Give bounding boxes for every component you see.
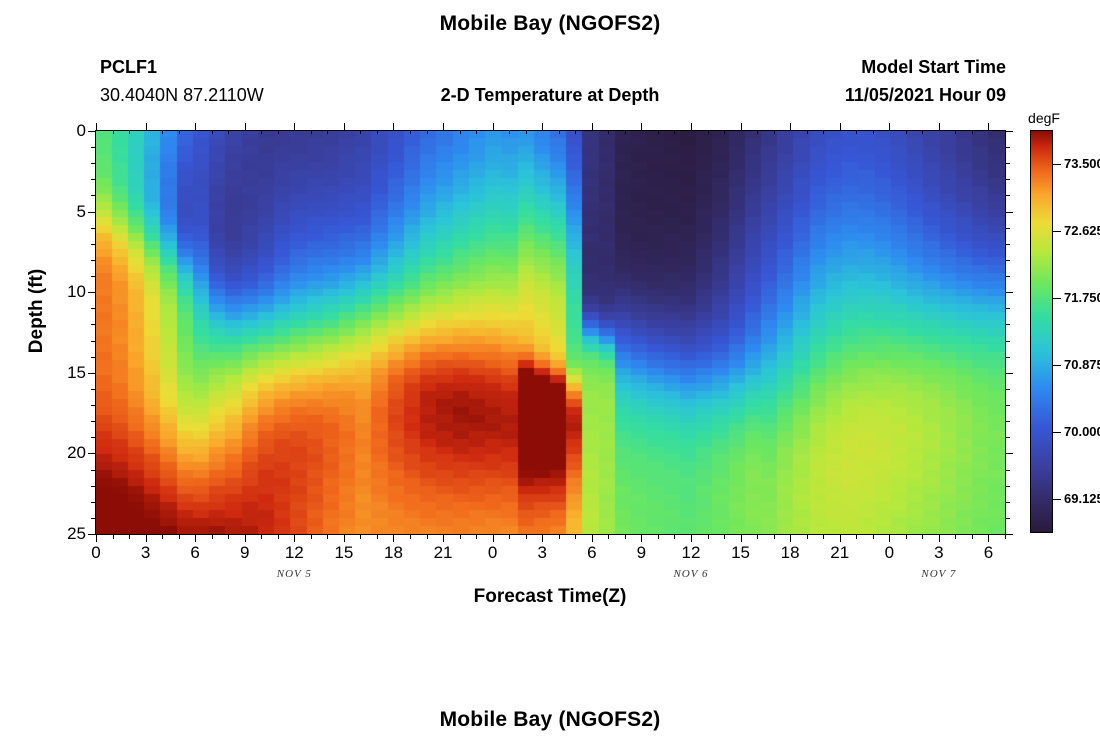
x-axis-tick: [625, 535, 626, 539]
x-axis-tick-label: 9: [225, 543, 265, 563]
colorbar-tick: [1053, 164, 1061, 165]
y-axis-tick-right: [1006, 341, 1010, 342]
x-axis-tick-label: 0: [76, 543, 116, 563]
y-axis-tick-right: [1006, 131, 1013, 132]
x-axis-tick: [988, 535, 989, 542]
x-axis-tick: [939, 535, 940, 542]
colorbar-canvas: [1030, 130, 1053, 533]
x-axis-tick-top: [691, 123, 692, 130]
model-start-time-label: Model Start Time: [706, 57, 1006, 78]
x-axis-tick: [96, 535, 97, 542]
x-axis-tick: [840, 535, 841, 542]
y-axis-tick: [91, 324, 95, 325]
x-axis-tick-top: [790, 123, 791, 130]
y-axis-tick: [91, 502, 95, 503]
x-axis-tick-top: [245, 123, 246, 130]
x-axis-tick-top: [741, 123, 742, 130]
x-axis-tick-top: [344, 123, 345, 130]
y-axis-title: Depth (ft): [26, 211, 48, 411]
colorbar-tick: [1053, 432, 1061, 433]
y-axis-tick: [91, 389, 95, 390]
x-axis-tick: [212, 535, 213, 539]
x-axis-tick-top: [427, 130, 428, 134]
y-axis-tick-right: [1006, 470, 1010, 471]
x-axis-tick-top: [377, 130, 378, 134]
y-axis-tick-right: [1006, 292, 1013, 293]
x-axis-tick-label: 0: [869, 543, 909, 563]
y-axis-tick-right: [1006, 276, 1010, 277]
x-axis-tick: [493, 535, 494, 542]
station-id-label: PCLF1: [100, 57, 157, 78]
y-axis-tick: [91, 470, 95, 471]
x-axis-tick: [1005, 535, 1006, 539]
x-axis-tick-top: [443, 123, 444, 130]
y-axis-tick-right: [1006, 147, 1010, 148]
x-axis-tick: [708, 535, 709, 539]
x-axis-tick-top: [179, 130, 180, 134]
x-axis-tick: [922, 535, 923, 539]
x-axis-tick-top: [493, 123, 494, 130]
y-axis-tick: [91, 308, 95, 309]
x-axis-tick-label: 21: [820, 543, 860, 563]
x-axis-tick: [955, 535, 956, 539]
x-axis-tick: [774, 535, 775, 539]
x-axis-tick: [393, 535, 394, 542]
y-axis-tick: [88, 373, 95, 374]
x-axis-tick-top: [988, 123, 989, 130]
x-axis-tick: [542, 535, 543, 542]
x-axis-tick: [608, 535, 609, 539]
x-axis-tick: [856, 535, 857, 539]
x-axis-tick-top: [146, 123, 147, 130]
y-axis-tick-label: 20: [46, 443, 86, 463]
y-axis-tick-label: 0: [46, 121, 86, 141]
x-axis-tick-top: [294, 123, 295, 130]
y-axis-tick-right: [1006, 163, 1010, 164]
y-axis-tick-right: [1006, 212, 1013, 213]
x-axis-tick-top: [460, 130, 461, 134]
x-axis-tick-top: [625, 130, 626, 134]
x-axis-tick-label: 0: [473, 543, 513, 563]
colorbar-tick: [1053, 231, 1061, 232]
colorbar-unit-label: degF: [1014, 110, 1074, 126]
x-axis-tick: [509, 535, 510, 539]
y-axis-tick: [91, 260, 95, 261]
y-axis-tick: [91, 179, 95, 180]
x-axis-tick: [344, 535, 345, 542]
x-axis-tick-top: [889, 123, 890, 130]
model-start-time-value: 11/05/2021 Hour 09: [706, 85, 1006, 106]
x-axis-tick-top: [608, 130, 609, 134]
x-axis-tick-top: [708, 130, 709, 134]
x-axis-tick-top: [476, 130, 477, 134]
x-axis-tick-label: 6: [572, 543, 612, 563]
x-axis-tick: [674, 535, 675, 539]
colorbar-tick: [1053, 499, 1061, 500]
colorbar: [1030, 130, 1053, 533]
x-axis-tick-top: [162, 130, 163, 134]
y-axis-tick-right: [1006, 453, 1013, 454]
x-axis-tick-top: [873, 130, 874, 134]
x-axis-tick: [823, 535, 824, 539]
x-axis-date-label: NOV 5: [254, 568, 334, 580]
x-axis-tick: [889, 535, 890, 542]
x-axis-tick: [443, 535, 444, 542]
colorbar-tick-label: 69.125: [1064, 491, 1100, 506]
y-axis-tick: [91, 486, 95, 487]
y-axis-tick-right: [1006, 324, 1010, 325]
y-axis-tick-right: [1006, 357, 1010, 358]
x-axis-tick: [724, 535, 725, 539]
x-axis-tick: [476, 535, 477, 539]
x-axis-tick-top: [542, 123, 543, 130]
x-axis-tick-top: [592, 123, 593, 130]
x-axis-tick: [261, 535, 262, 539]
heatmap-plot-area: [95, 130, 1006, 535]
x-axis-tick: [311, 535, 312, 539]
x-axis-date-label: NOV 7: [899, 568, 979, 580]
x-axis-tick-top: [641, 123, 642, 130]
x-axis-tick-label: 6: [968, 543, 1008, 563]
y-axis-tick-label: 25: [46, 524, 86, 544]
x-axis-tick: [410, 535, 411, 539]
x-axis-tick: [873, 535, 874, 539]
x-axis-tick-top: [261, 130, 262, 134]
y-axis-tick-label: 10: [46, 282, 86, 302]
y-axis-tick: [91, 276, 95, 277]
x-axis-tick: [427, 535, 428, 539]
x-axis-tick: [278, 535, 279, 539]
x-axis-tick-top: [212, 130, 213, 134]
y-axis-tick: [91, 163, 95, 164]
y-axis-tick-right: [1006, 260, 1010, 261]
bottom-caption: Mobile Bay (NGOFS2): [0, 708, 1100, 732]
x-axis-tick-top: [774, 130, 775, 134]
x-axis-tick: [575, 535, 576, 539]
colorbar-tick: [1053, 298, 1061, 299]
x-axis-tick: [129, 535, 130, 539]
y-axis-tick: [91, 518, 95, 519]
x-axis-tick-label: 12: [274, 543, 314, 563]
x-axis-tick: [146, 535, 147, 542]
x-axis-tick: [741, 535, 742, 542]
x-axis-tick-label: 9: [621, 543, 661, 563]
x-axis-title: Forecast Time(Z): [0, 586, 1100, 608]
x-axis-tick: [526, 535, 527, 539]
x-axis-tick: [559, 535, 560, 539]
y-axis-tick: [91, 244, 95, 245]
y-axis-tick-right: [1006, 179, 1010, 180]
y-axis-tick-right: [1006, 228, 1010, 229]
x-axis-tick-top: [906, 130, 907, 134]
x-axis-tick-top: [757, 130, 758, 134]
y-axis-tick: [91, 195, 95, 196]
x-axis-tick-top: [228, 130, 229, 134]
x-axis-tick-label: 18: [770, 543, 810, 563]
x-axis-tick-top: [113, 130, 114, 134]
x-axis-tick-top: [922, 130, 923, 134]
x-axis-tick-top: [724, 130, 725, 134]
x-axis-tick-label: 21: [423, 543, 463, 563]
x-axis-tick: [245, 535, 246, 542]
colorbar-tick-label: 70.875: [1064, 357, 1100, 372]
y-axis-tick-right: [1006, 486, 1010, 487]
x-axis-tick-top: [674, 130, 675, 134]
x-axis-tick-top: [509, 130, 510, 134]
x-axis-tick-label: 3: [522, 543, 562, 563]
x-axis-tick: [757, 535, 758, 539]
y-axis-tick-right: [1006, 534, 1013, 535]
y-axis-tick-right: [1006, 373, 1013, 374]
x-axis-tick-label: 15: [721, 543, 761, 563]
x-axis-tick-label: 6: [175, 543, 215, 563]
y-axis-tick-right: [1006, 244, 1010, 245]
x-axis-tick-top: [972, 130, 973, 134]
x-axis-tick-top: [807, 130, 808, 134]
x-axis-tick: [807, 535, 808, 539]
y-axis-tick: [88, 131, 95, 132]
y-axis-tick-right: [1006, 502, 1010, 503]
x-axis-tick-top: [360, 130, 361, 134]
x-axis-tick-label: 3: [919, 543, 959, 563]
x-axis-tick-top: [410, 130, 411, 134]
x-axis-tick: [641, 535, 642, 542]
colorbar-tick-label: 73.500: [1064, 156, 1100, 171]
x-axis-tick: [658, 535, 659, 539]
x-axis-tick: [113, 535, 114, 539]
x-axis-tick-label: 15: [324, 543, 364, 563]
x-axis-tick-top: [823, 130, 824, 134]
colorbar-tick-label: 71.750: [1064, 290, 1100, 305]
y-axis-tick: [91, 357, 95, 358]
temperature-heatmap-canvas: [96, 131, 1005, 534]
y-axis-tick: [91, 147, 95, 148]
y-axis-tick-right: [1006, 405, 1010, 406]
x-axis-tick: [327, 535, 328, 539]
x-axis-tick-top: [129, 130, 130, 134]
y-axis-tick: [88, 212, 95, 213]
x-axis-tick-top: [327, 130, 328, 134]
colorbar-tick-label: 70.000: [1064, 424, 1100, 439]
chart-page: Mobile Bay (NGOFS2) PCLF1 30.4040N 87.21…: [0, 0, 1100, 750]
y-axis-tick-right: [1006, 421, 1010, 422]
x-axis-tick-top: [96, 123, 97, 130]
x-axis-tick-top: [575, 130, 576, 134]
x-axis-tick: [460, 535, 461, 539]
x-axis-tick-top: [856, 130, 857, 134]
y-axis-tick-right: [1006, 518, 1010, 519]
x-axis-tick-top: [526, 130, 527, 134]
x-axis-tick-top: [195, 123, 196, 130]
colorbar-tick: [1053, 365, 1061, 366]
x-axis-tick-top: [840, 123, 841, 130]
x-axis-tick: [162, 535, 163, 539]
x-axis-tick-label: 12: [671, 543, 711, 563]
x-axis-tick-top: [278, 130, 279, 134]
x-axis-tick: [592, 535, 593, 542]
y-axis-tick-right: [1006, 195, 1010, 196]
x-axis-tick: [179, 535, 180, 539]
y-axis-tick: [91, 421, 95, 422]
y-axis-tick: [91, 228, 95, 229]
x-axis-tick-label: 18: [373, 543, 413, 563]
x-axis-tick-top: [955, 130, 956, 134]
x-axis-tick: [228, 535, 229, 539]
colorbar-tick-label: 72.625: [1064, 223, 1100, 238]
y-axis-tick: [91, 405, 95, 406]
x-axis-tick: [294, 535, 295, 542]
x-axis-tick-top: [393, 123, 394, 130]
x-axis-tick: [906, 535, 907, 539]
y-axis-tick: [91, 341, 95, 342]
x-axis-tick: [972, 535, 973, 539]
y-axis-tick: [91, 437, 95, 438]
y-axis-tick: [88, 292, 95, 293]
y-axis-tick: [88, 453, 95, 454]
y-axis-tick-right: [1006, 437, 1010, 438]
x-axis-tick-top: [939, 123, 940, 130]
x-axis-tick: [790, 535, 791, 542]
x-axis-tick-top: [559, 130, 560, 134]
x-axis-tick: [377, 535, 378, 539]
page-title: Mobile Bay (NGOFS2): [0, 12, 1100, 36]
y-axis-tick-label: 15: [46, 363, 86, 383]
x-axis-tick: [195, 535, 196, 542]
x-axis-tick: [360, 535, 361, 539]
y-axis-tick-label: 5: [46, 202, 86, 222]
y-axis-tick-right: [1006, 308, 1010, 309]
x-axis-date-label: NOV 6: [651, 568, 731, 580]
x-axis-tick-label: 3: [126, 543, 166, 563]
x-axis-tick: [691, 535, 692, 542]
x-axis-tick-top: [658, 130, 659, 134]
y-axis-tick: [88, 534, 95, 535]
y-axis-tick-right: [1006, 389, 1010, 390]
x-axis-tick-top: [311, 130, 312, 134]
